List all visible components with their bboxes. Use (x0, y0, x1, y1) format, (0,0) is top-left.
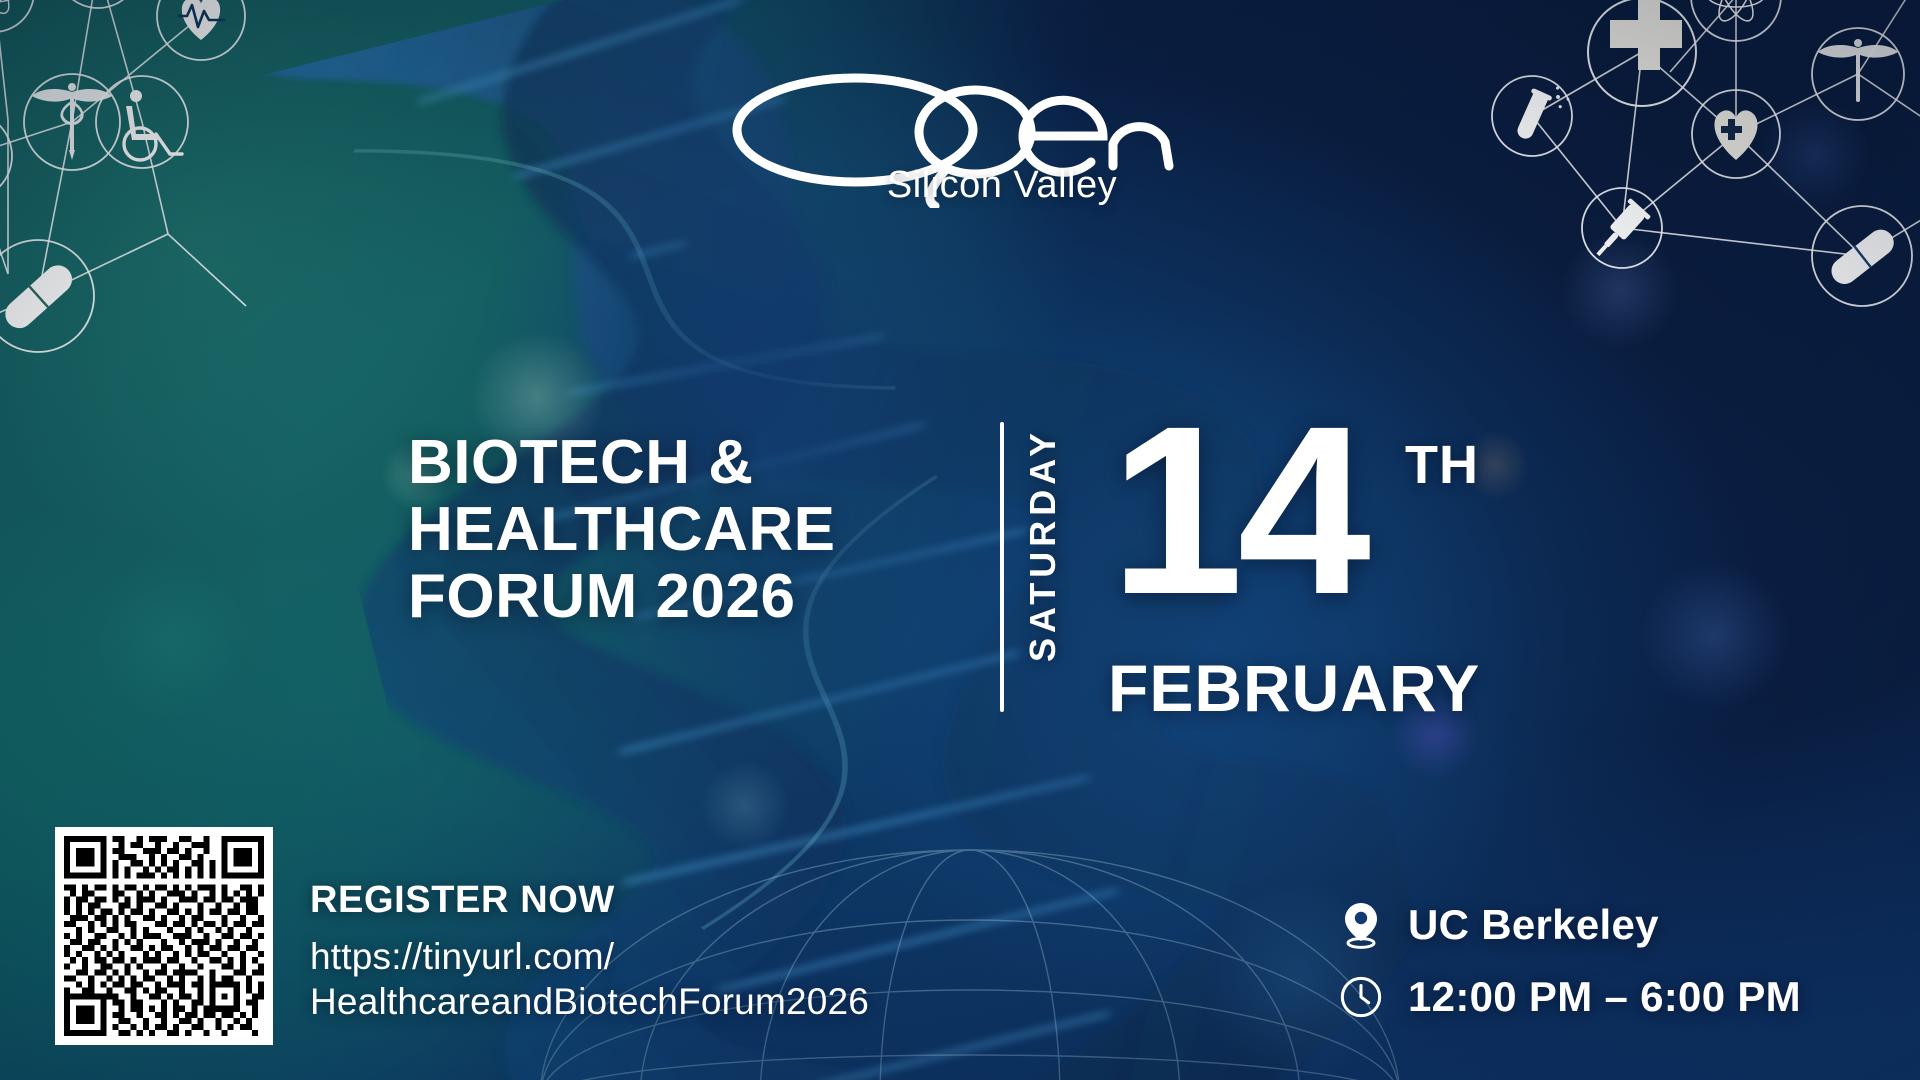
event-date-block: SATURDAY 14 TH FEBRUARY (1000, 412, 1560, 742)
date-divider (1000, 422, 1004, 712)
register-url-line-1: https://tinyurl.com/ (310, 934, 1070, 979)
headline-line-2: HEALTHCARE (408, 497, 1028, 564)
venue-details: UC Berkeley 12:00 PM – 6:00 PM (1338, 900, 1858, 1022)
venue-time-text: 12:00 PM – 6:00 PM (1408, 973, 1801, 1021)
register-now-label: REGISTER NOW (310, 879, 1070, 922)
clock-icon (1338, 972, 1384, 1022)
map-pin-icon (1338, 900, 1384, 950)
event-weekday: SATURDAY (1022, 428, 1064, 662)
register-url-line-2: HealthcareandBiotechForum2026 (310, 979, 1070, 1024)
event-poster: Silicon Valley BIOTECH & HEALTHCARE FORU… (0, 0, 1920, 1080)
venue-location-row: UC Berkeley (1338, 900, 1858, 950)
event-day-ordinal: TH (1405, 434, 1479, 496)
open-silicon-valley-logo: Silicon Valley (700, 58, 1220, 207)
venue-time-row: 12:00 PM – 6:00 PM (1338, 972, 1858, 1022)
register-url[interactable]: https://tinyurl.com/ HealthcareandBiotec… (310, 934, 1070, 1024)
event-day-number: 14 (1110, 390, 1365, 630)
venue-location-text: UC Berkeley (1408, 901, 1659, 949)
qr-code[interactable] (55, 827, 273, 1045)
event-month: FEBRUARY (1108, 650, 1480, 726)
page-title: BIOTECH & HEALTHCARE FORUM 2026 (408, 430, 1028, 631)
qr-code-image (64, 836, 264, 1036)
headline-line-1: BIOTECH & (408, 430, 1028, 497)
headline-line-3: FORUM 2026 (408, 564, 1028, 631)
register-section: REGISTER NOW https://tinyurl.com/ Health… (310, 879, 1070, 1024)
